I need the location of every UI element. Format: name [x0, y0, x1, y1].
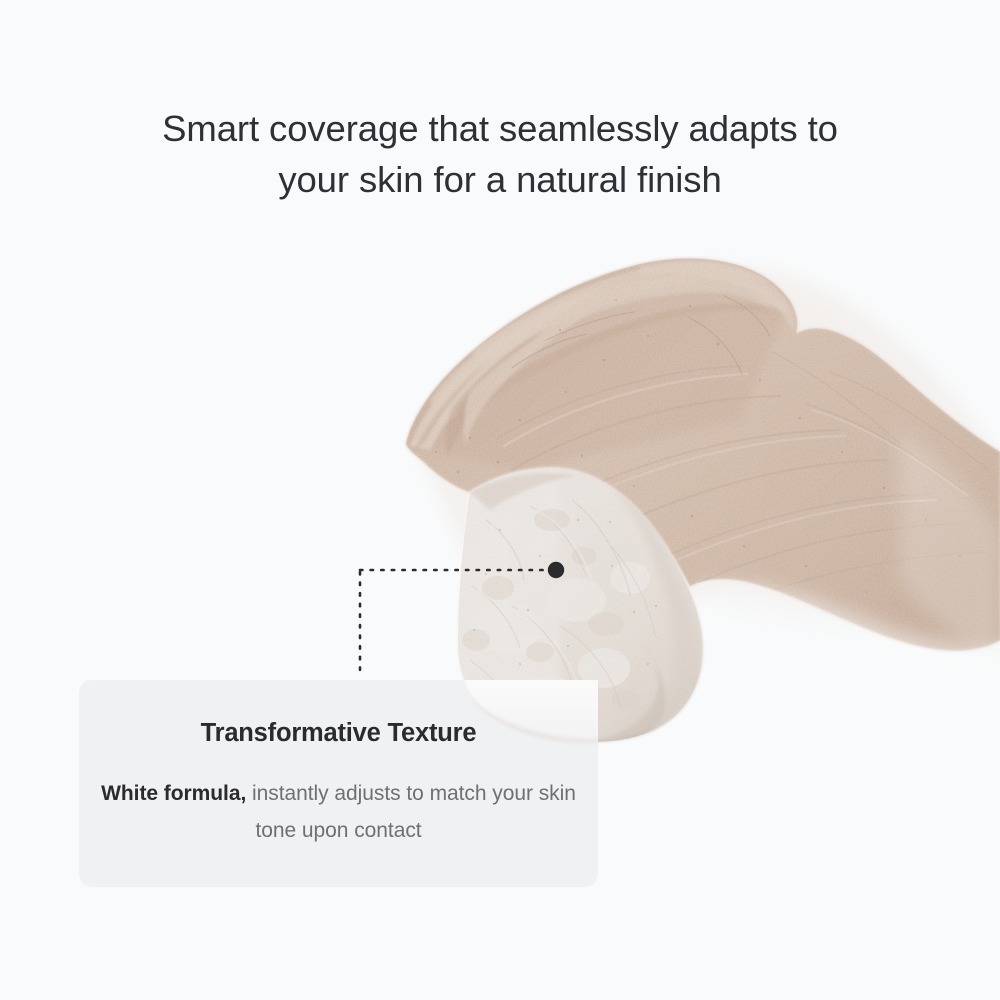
- promo-graphic: Smart coverage that seamlessly adapts to…: [0, 0, 1000, 1000]
- callout-leader: [0, 0, 1000, 1000]
- hotspot-dot[interactable]: [548, 562, 564, 578]
